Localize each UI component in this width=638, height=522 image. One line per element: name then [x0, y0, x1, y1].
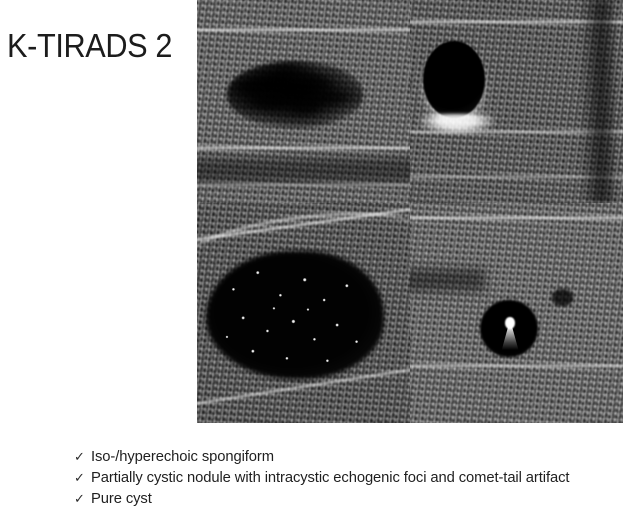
- ultrasound-image-a: [197, 0, 410, 203]
- ultrasound-image-d: [410, 203, 623, 423]
- fascia-line: [197, 28, 410, 32]
- fascia-line: [410, 364, 623, 368]
- ultrasound-panel-spongiform: [197, 0, 410, 203]
- hypoechoic-band: [197, 158, 410, 182]
- list-item: ✓ Pure cyst: [74, 488, 634, 509]
- spongiform-nodule: [227, 61, 363, 128]
- criteria-list: ✓ Iso-/hyperechoic spongiform ✓ Partiall…: [74, 446, 634, 509]
- ultrasound-panel-partially-cystic: [197, 203, 410, 423]
- anechoic-cyst: [423, 41, 485, 118]
- fascia-line: [410, 216, 623, 220]
- ultrasound-image-b: [410, 0, 623, 203]
- list-item: ✓ Iso-/hyperechoic spongiform: [74, 446, 634, 467]
- fascia-line: [197, 183, 410, 187]
- posterior-enhancement: [419, 114, 496, 134]
- check-icon: ✓: [74, 467, 91, 488]
- page-title: K-TIRADS 2: [7, 26, 172, 66]
- ultrasound-panel-anechoic-cyst: [410, 0, 623, 203]
- ultrasound-panel-pure-cyst: [410, 203, 623, 423]
- list-item-label: Partially cystic nodule with intracystic…: [91, 467, 569, 488]
- acoustic-shadow: [580, 0, 614, 203]
- fascia-line: [197, 146, 410, 150]
- check-icon: ✓: [74, 488, 91, 509]
- list-item-label: Pure cyst: [91, 488, 152, 509]
- hypoechoic-band: [410, 269, 485, 291]
- list-item-label: Iso-/hyperechoic spongiform: [91, 446, 274, 467]
- ultrasound-panel-grid: [197, 0, 623, 423]
- list-item: ✓ Partially cystic nodule with intracyst…: [74, 467, 634, 488]
- check-icon: ✓: [74, 446, 91, 467]
- ultrasound-image-c: [197, 203, 410, 423]
